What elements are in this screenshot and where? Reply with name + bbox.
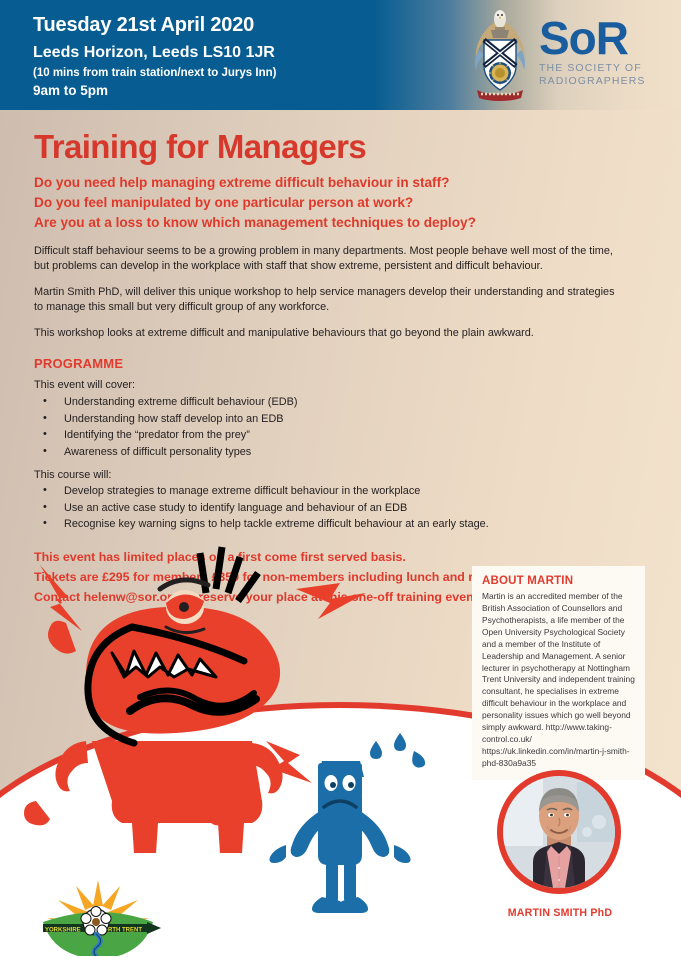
course-lead: This course will: [34,468,647,484]
intro-paragraph: Difficult staff behaviour seems to be a … [34,244,619,274]
logo-text-left: YORKSHIRE [45,928,81,934]
event-time: 9am to 5pm [33,83,276,99]
avatar [503,776,615,888]
yorkshire-north-trent-logo: YORKSHIRE NORTH TRENT [35,878,161,956]
sor-coat-of-arms-icon [467,10,533,102]
page-title: Training for Managers [34,130,647,163]
list-item: Awareness of difficult personality types [34,444,647,461]
course-list: Develop strategies to manage extreme dif… [34,483,647,533]
portrait-of-martin-smith-image [503,776,615,888]
event-date: Tuesday 21st April 2020 [33,14,276,37]
sor-wordmark-block: SoR THE SOCIETY OF RADIOGRAPHERS [539,20,645,88]
event-venue: Leeds Horizon, Leeds LS10 1JR [33,44,276,62]
anger-marks-icon [200,547,258,601]
intro-paragraph: This workshop looks at extreme difficult… [34,326,619,341]
illustration-monster-and-person [0,545,470,915]
about-heading: ABOUT MARTIN [482,575,635,587]
header-text-block: Tuesday 21st April 2020 Leeds Horizon, L… [33,14,276,99]
poster-canvas: Tuesday 21st April 2020 Leeds Horizon, L… [0,0,681,958]
header-band: Tuesday 21st April 2020 Leeds Horizon, L… [0,0,681,110]
list-item: Develop strategies to manage extreme dif… [34,483,647,500]
question-list: Do you need help managing extreme diffic… [34,173,647,233]
question-line: Are you at a loss to know which manageme… [34,213,647,233]
speaker-photo-frame [497,770,621,894]
about-martin-panel: ABOUT MARTIN Martin is an accredited mem… [472,566,645,780]
sor-logo: SoR THE SOCIETY OF RADIOGRAPHERS [467,8,663,104]
sor-subtitle: THE SOCIETY OF RADIOGRAPHERS [539,62,645,88]
event-travel-note: (10 mins from train station/next to Jury… [33,67,276,81]
programme-heading: PROGRAMME [34,356,647,371]
about-body-text: Martin is an accredited member of the Br… [482,591,635,770]
white-rose-icon [81,907,111,936]
speaker-caption: MARTIN SMITH PhD [470,907,650,919]
sor-subtitle-line2: RADIOGRAPHERS [539,75,645,88]
list-item: Recognise key warning signs to help tack… [34,516,647,533]
question-line: Do you feel manipulated by one particula… [34,193,647,213]
sor-wordmark: SoR [539,20,645,58]
cover-lead: This event will cover: [34,378,647,394]
question-line: Do you need help managing extreme diffic… [34,173,647,193]
intro-paragraph: Martin Smith PhD, will deliver this uniq… [34,285,619,315]
list-item: Use an active case study to identify lan… [34,500,647,517]
list-item: Understanding how staff develop into an … [34,411,647,428]
angry-red-monster-icon [24,607,283,853]
sor-subtitle-line1: THE SOCIETY OF [539,62,645,75]
cover-list: Understanding extreme difficult behaviou… [34,394,647,460]
main-content: Training for Managers Do you need help m… [0,110,681,607]
worried-blue-person-icon [270,733,426,913]
list-item: Identifying the “predator from the prey” [34,427,647,444]
list-item: Understanding extreme difficult behaviou… [34,394,647,411]
